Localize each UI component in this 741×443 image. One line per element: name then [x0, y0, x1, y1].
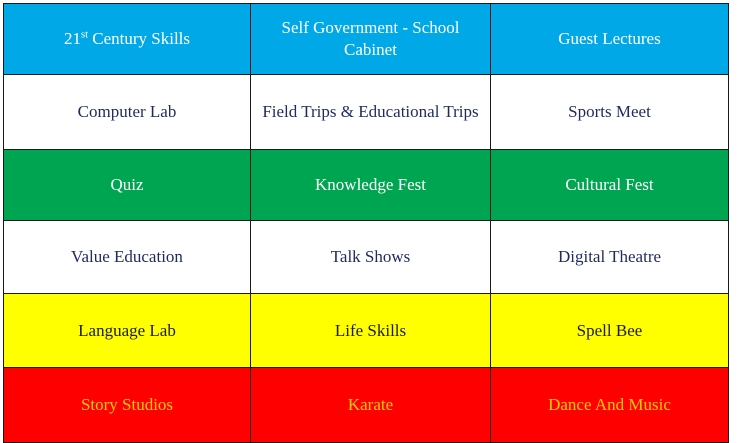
table-cell-r0c2[interactable]: Guest Lectures	[491, 4, 729, 75]
cell-label-knowledge-fest: Knowledge Fest	[259, 174, 482, 196]
cell-label-computer-lab: Computer Lab	[12, 101, 242, 123]
page-root: 21st Century Skills Self Government - Sc…	[0, 0, 741, 418]
table-row: 21st Century Skills Self Government - Sc…	[4, 4, 729, 75]
table-cell-r0c1[interactable]: Self Government - School Cabinet	[251, 4, 491, 75]
cell-label-spell-bee: Spell Bee	[499, 320, 720, 342]
cell-label-talk-shows: Talk Shows	[259, 246, 482, 268]
table-cell-r5c1[interactable]: Karate	[251, 368, 491, 443]
cell-label-21st-century-skills: 21st Century Skills	[12, 28, 242, 50]
table-body: 21st Century Skills Self Government - Sc…	[4, 4, 729, 443]
table-row: Quiz Knowledge Fest Cultural Fest	[4, 150, 729, 221]
cell-label-digital-theatre: Digital Theatre	[499, 246, 720, 268]
table-cell-r2c1[interactable]: Knowledge Fest	[251, 150, 491, 221]
table-cell-r5c0[interactable]: Story Studios	[4, 368, 251, 443]
table-cell-r4c0[interactable]: Language Lab	[4, 294, 251, 368]
cell-label-quiz: Quiz	[12, 174, 242, 196]
cell-label-life-skills: Life Skills	[259, 320, 482, 342]
table-cell-r2c0[interactable]: Quiz	[4, 150, 251, 221]
activities-table: 21st Century Skills Self Government - Sc…	[3, 3, 729, 443]
cell-label-cultural-fest: Cultural Fest	[499, 174, 720, 196]
table-cell-r2c2[interactable]: Cultural Fest	[491, 150, 729, 221]
cell-label-value-education: Value Education	[12, 246, 242, 268]
cell-label-dance-and-music: Dance And Music	[499, 394, 720, 416]
table-cell-r3c1[interactable]: Talk Shows	[251, 221, 491, 294]
cell-label-self-government: Self Government - School Cabinet	[259, 17, 482, 61]
table-cell-r1c1[interactable]: Field Trips & Educational Trips	[251, 75, 491, 150]
cell-label-sports-meet: Sports Meet	[499, 101, 720, 123]
cell-label-story-studios: Story Studios	[12, 394, 242, 416]
cell-label-karate: Karate	[259, 394, 482, 416]
cell-label-language-lab: Language Lab	[12, 320, 242, 342]
cell-label-guest-lectures: Guest Lectures	[499, 28, 720, 50]
table-row: Computer Lab Field Trips & Educational T…	[4, 75, 729, 150]
table-cell-r1c2[interactable]: Sports Meet	[491, 75, 729, 150]
table-cell-r5c2[interactable]: Dance And Music	[491, 368, 729, 443]
table-cell-r4c1[interactable]: Life Skills	[251, 294, 491, 368]
table-cell-r3c2[interactable]: Digital Theatre	[491, 221, 729, 294]
table-row: Value Education Talk Shows Digital Theat…	[4, 221, 729, 294]
table-cell-r4c2[interactable]: Spell Bee	[491, 294, 729, 368]
table-row: Language Lab Life Skills Spell Bee	[4, 294, 729, 368]
table-cell-r0c0[interactable]: 21st Century Skills	[4, 4, 251, 75]
cell-label-field-trips: Field Trips & Educational Trips	[259, 101, 482, 123]
table-cell-r1c0[interactable]: Computer Lab	[4, 75, 251, 150]
ordinal-suffix-icon: st	[81, 29, 88, 40]
table-row: Story Studios Karate Dance And Music	[4, 368, 729, 443]
table-cell-r3c0[interactable]: Value Education	[4, 221, 251, 294]
